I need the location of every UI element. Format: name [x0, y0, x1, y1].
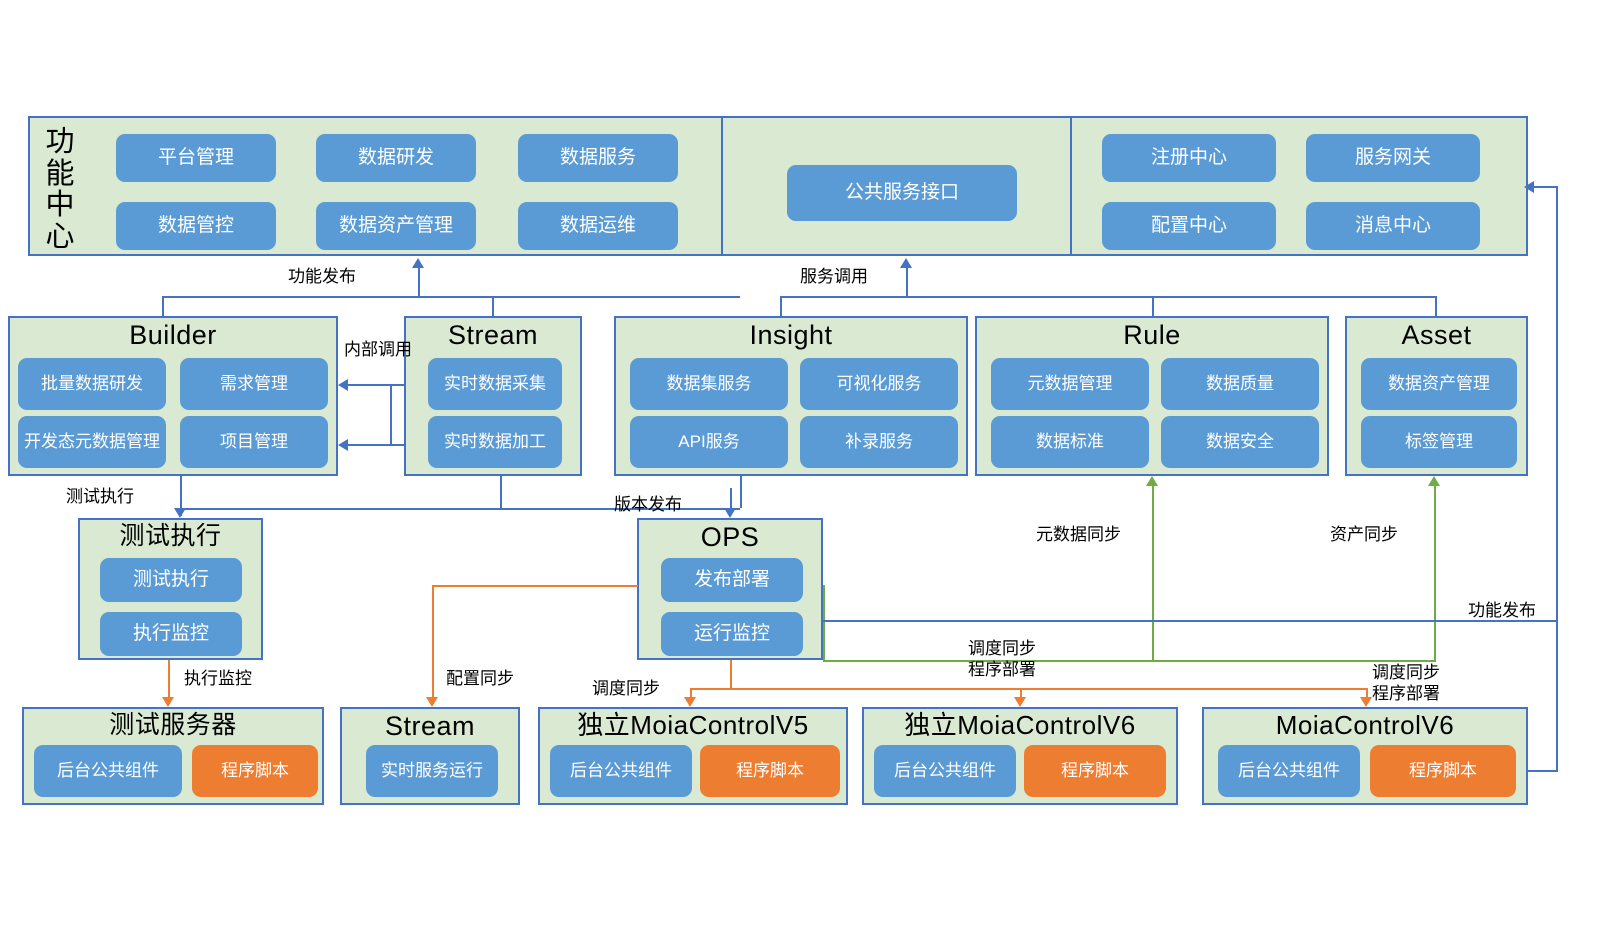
arrow-asset-sync: [1428, 476, 1440, 486]
connector-rule-up: [1152, 296, 1154, 318]
pill-batch-data-development[interactable]: 批量数据研发: [18, 358, 166, 410]
function-center-label-char-0: 功: [45, 128, 74, 157]
connector-bus-top-left: [162, 296, 740, 298]
server-standalone-moiacontrolv6-title: 独立MoiaControlV6: [864, 709, 1176, 739]
connector-execution-monitor-v: [168, 660, 170, 700]
connector-metadata-sync-v: [1152, 486, 1154, 662]
pill-service-gateway[interactable]: 服务网关: [1306, 134, 1480, 182]
label-metadata-sync: 元数据同步: [1036, 524, 1121, 545]
connector-asset-sync-v: [1434, 486, 1436, 662]
connector-bus-top-right: [780, 296, 1435, 298]
pill-program-script-3[interactable]: 程序脚本: [1024, 745, 1166, 797]
pill-data-asset-management[interactable]: 数据资产管理: [316, 202, 476, 250]
pill-realtime-data-collection[interactable]: 实时数据采集: [428, 358, 562, 410]
pill-backend-common-component-3[interactable]: 后台公共组件: [874, 745, 1016, 797]
connector-green-bus: [823, 660, 1435, 662]
arrow-metadata-sync: [1146, 476, 1158, 486]
platform-asset-title: Asset: [1347, 318, 1526, 349]
pill-realtime-service-running[interactable]: 实时服务运行: [366, 745, 498, 797]
pill-message-center[interactable]: 消息中心: [1306, 202, 1480, 250]
connector-asset-up: [1435, 296, 1437, 318]
label-schedule-sync: 调度同步: [592, 678, 660, 699]
function-center-label-char-2: 中: [45, 191, 74, 220]
connector-internal-call-vertical: [390, 384, 392, 446]
label-function-publish-top: 功能发布: [288, 266, 356, 287]
arrow-service-call: [900, 258, 912, 268]
label-version-publish: 版本发布: [614, 494, 682, 515]
platform-stream-title: Stream: [406, 318, 580, 349]
connector-internal-call-h2: [348, 444, 404, 446]
label-schedule-sync-deploy-mid: 调度同步 程序部署: [968, 638, 1036, 681]
server-standalone-moiacontrolv5-title: 独立MoiaControlV5: [540, 709, 846, 739]
arrow-schedule-sync-v6: [1014, 697, 1026, 707]
connector-config-sync-v: [432, 585, 434, 700]
group-test-execution: 测试执行 测试执行 执行监控: [78, 518, 263, 660]
pill-public-service-interface[interactable]: 公共服务接口: [787, 165, 1017, 221]
connector-orange-bus: [690, 688, 1366, 690]
pill-metadata-management[interactable]: 元数据管理: [991, 358, 1149, 410]
arrow-function-publish-right: [1524, 181, 1534, 193]
pill-platform-management[interactable]: 平台管理: [116, 134, 276, 182]
connector-right-loop-to-moiav6: [1528, 770, 1558, 772]
label-service-call: 服务调用: [800, 266, 868, 287]
pill-requirement-management[interactable]: 需求管理: [180, 358, 328, 410]
pill-release-deployment[interactable]: 发布部署: [661, 558, 803, 602]
label-asset-sync: 资产同步: [1330, 524, 1398, 545]
pill-asset-data-asset-management[interactable]: 数据资产管理: [1361, 358, 1517, 410]
pill-api-service[interactable]: API服务: [630, 416, 788, 468]
pill-config-center[interactable]: 配置中心: [1102, 202, 1276, 250]
arrow-config-sync: [426, 697, 438, 707]
arrow-function-publish-top: [412, 258, 424, 268]
pill-test-execution[interactable]: 测试执行: [100, 558, 242, 602]
label-schedule-sync-deploy-right: 调度同步 程序部署: [1372, 662, 1440, 705]
arrow-internal-call-1: [338, 379, 348, 391]
connector-servicecall-up: [906, 266, 908, 298]
label-config-sync: 配置同步: [446, 668, 514, 689]
pill-program-script-1[interactable]: 程序脚本: [192, 745, 318, 797]
label-function-publish-right: 功能发布: [1468, 600, 1536, 621]
server-moiacontrolv6-title: MoiaControlV6: [1204, 709, 1526, 739]
platform-insight-title: Insight: [616, 318, 966, 349]
function-center-divider-2: [1070, 118, 1072, 254]
group-test-execution-title: 测试执行: [80, 520, 261, 549]
pill-project-management[interactable]: 项目管理: [180, 416, 328, 468]
pill-realtime-data-processing[interactable]: 实时数据加工: [428, 416, 562, 468]
connector-green-from-ops: [823, 585, 825, 661]
pill-backend-common-component-1[interactable]: 后台公共组件: [34, 745, 182, 797]
server-standalone-moiacontrolv6: 独立MoiaControlV6 后台公共组件 程序脚本: [862, 707, 1178, 805]
pill-visualization-service[interactable]: 可视化服务: [800, 358, 958, 410]
arrow-internal-call-2: [338, 439, 348, 451]
server-moiacontrolv6: MoiaControlV6 后台公共组件 程序脚本: [1202, 707, 1528, 805]
pill-registry-center[interactable]: 注册中心: [1102, 134, 1276, 182]
connector-insight-up: [780, 296, 782, 318]
function-center-label: 功 能 中 心: [36, 126, 84, 254]
connector-internal-call-h1: [348, 384, 404, 386]
arrow-version-publish: [724, 508, 736, 518]
pill-program-script-4[interactable]: 程序脚本: [1370, 745, 1516, 797]
platform-rule-title: Rule: [977, 318, 1327, 349]
connector-builder-up: [162, 296, 164, 318]
architecture-diagram: 功 能 中 心 平台管理 数据研发 数据服务 数据管控 数据资产管理 数据运维 …: [0, 0, 1611, 940]
pill-data-operations[interactable]: 数据运维: [518, 202, 678, 250]
arrow-schedule-sync-v5: [684, 697, 696, 707]
platform-insight: Insight 数据集服务 可视化服务 API服务 补录服务: [614, 316, 968, 476]
label-internal-call: 内部调用: [344, 340, 380, 360]
pill-data-governance[interactable]: 数据管控: [116, 202, 276, 250]
pill-supplement-service[interactable]: 补录服务: [800, 416, 958, 468]
connector-publish-up: [418, 266, 420, 298]
pill-data-service[interactable]: 数据服务: [518, 134, 678, 182]
connector-right-loop-v-lower: [1556, 620, 1558, 772]
arrow-test-execute: [174, 508, 186, 518]
server-test-server-title: 测试服务器: [24, 709, 322, 738]
server-standalone-moiacontrolv5: 独立MoiaControlV5 后台公共组件 程序脚本: [538, 707, 848, 805]
pill-backend-common-component-4[interactable]: 后台公共组件: [1218, 745, 1360, 797]
function-center-divider-1: [721, 118, 723, 254]
group-ops: OPS 发布部署 运行监控: [637, 518, 823, 660]
arrow-schedule-sync-moiav6: [1360, 697, 1372, 707]
pill-runtime-monitor[interactable]: 运行监控: [661, 612, 803, 656]
pill-backend-common-component-2[interactable]: 后台公共组件: [550, 745, 692, 797]
connector-ops-bottom-v: [730, 660, 732, 688]
label-test-execute: 测试执行: [66, 486, 134, 507]
connector-stream-down: [500, 476, 502, 508]
connector-ops-down: [730, 488, 732, 510]
platform-rule: Rule 元数据管理 数据质量 数据标准 数据安全: [975, 316, 1329, 476]
function-center-group: 功 能 中 心 平台管理 数据研发 数据服务 数据管控 数据资产管理 数据运维 …: [28, 116, 1528, 256]
connector-right-loop-h-top: [823, 620, 1558, 622]
pill-data-development[interactable]: 数据研发: [316, 134, 476, 182]
group-ops-title: OPS: [639, 520, 821, 551]
pill-dev-metadata-management[interactable]: 开发态元数据管理: [18, 416, 166, 468]
server-stream: Stream 实时服务运行: [340, 707, 520, 805]
platform-builder: Builder 批量数据研发 需求管理 开发态元数据管理 项目管理: [8, 316, 338, 476]
pill-execution-monitor[interactable]: 执行监控: [100, 612, 242, 656]
function-center-label-char-3: 心: [45, 223, 74, 252]
function-center-label-char-1: 能: [45, 160, 74, 189]
pill-dataset-service[interactable]: 数据集服务: [630, 358, 788, 410]
label-execution-monitor: 执行监控: [184, 668, 252, 689]
pill-tag-management[interactable]: 标签管理: [1361, 416, 1517, 468]
connector-insight-down: [740, 476, 742, 508]
pill-data-standard[interactable]: 数据标准: [991, 416, 1149, 468]
pill-data-security[interactable]: 数据安全: [1161, 416, 1319, 468]
pill-data-quality[interactable]: 数据质量: [1161, 358, 1319, 410]
connector-right-loop-arrow-h: [1534, 186, 1558, 188]
connector-builder-down: [180, 476, 182, 510]
connector-right-loop-v: [1556, 186, 1558, 622]
server-stream-title: Stream: [342, 709, 518, 740]
connector-config-sync-h: [432, 585, 638, 587]
platform-asset: Asset 数据资产管理 标签管理: [1345, 316, 1528, 476]
arrow-execution-monitor: [162, 697, 174, 707]
platform-stream: Stream 实时数据采集 实时数据加工: [404, 316, 582, 476]
connector-stream-up: [492, 296, 494, 318]
pill-program-script-2[interactable]: 程序脚本: [700, 745, 840, 797]
platform-builder-title: Builder: [10, 318, 336, 349]
server-test-server: 测试服务器 后台公共组件 程序脚本: [22, 707, 324, 805]
